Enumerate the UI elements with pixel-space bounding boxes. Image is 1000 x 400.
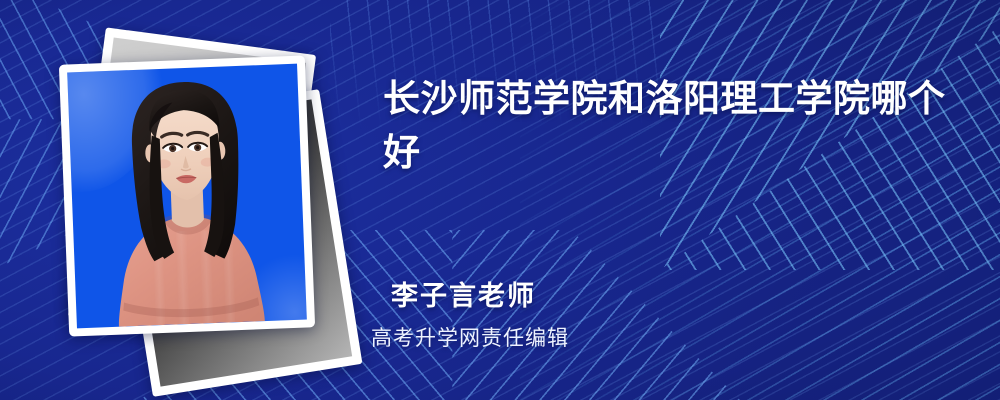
author-role: 高考升学网责任编辑 (371, 322, 569, 352)
banner-image: 长沙师范学院和洛阳理工学院哪个好 李子言老师 高考升学网责任编辑 (0, 0, 1000, 400)
text-block: 长沙师范学院和洛阳理工学院哪个好 李子言老师 高考升学网责任编辑 (383, 0, 963, 400)
front-card-photo (59, 55, 315, 336)
portrait-figure-icon (67, 64, 307, 329)
photo-card-stack (58, 38, 348, 368)
author-name: 李子言老师 (391, 274, 536, 313)
author-portrait (67, 64, 307, 329)
page-title: 长沙师范学院和洛阳理工学院哪个好 (383, 72, 953, 180)
